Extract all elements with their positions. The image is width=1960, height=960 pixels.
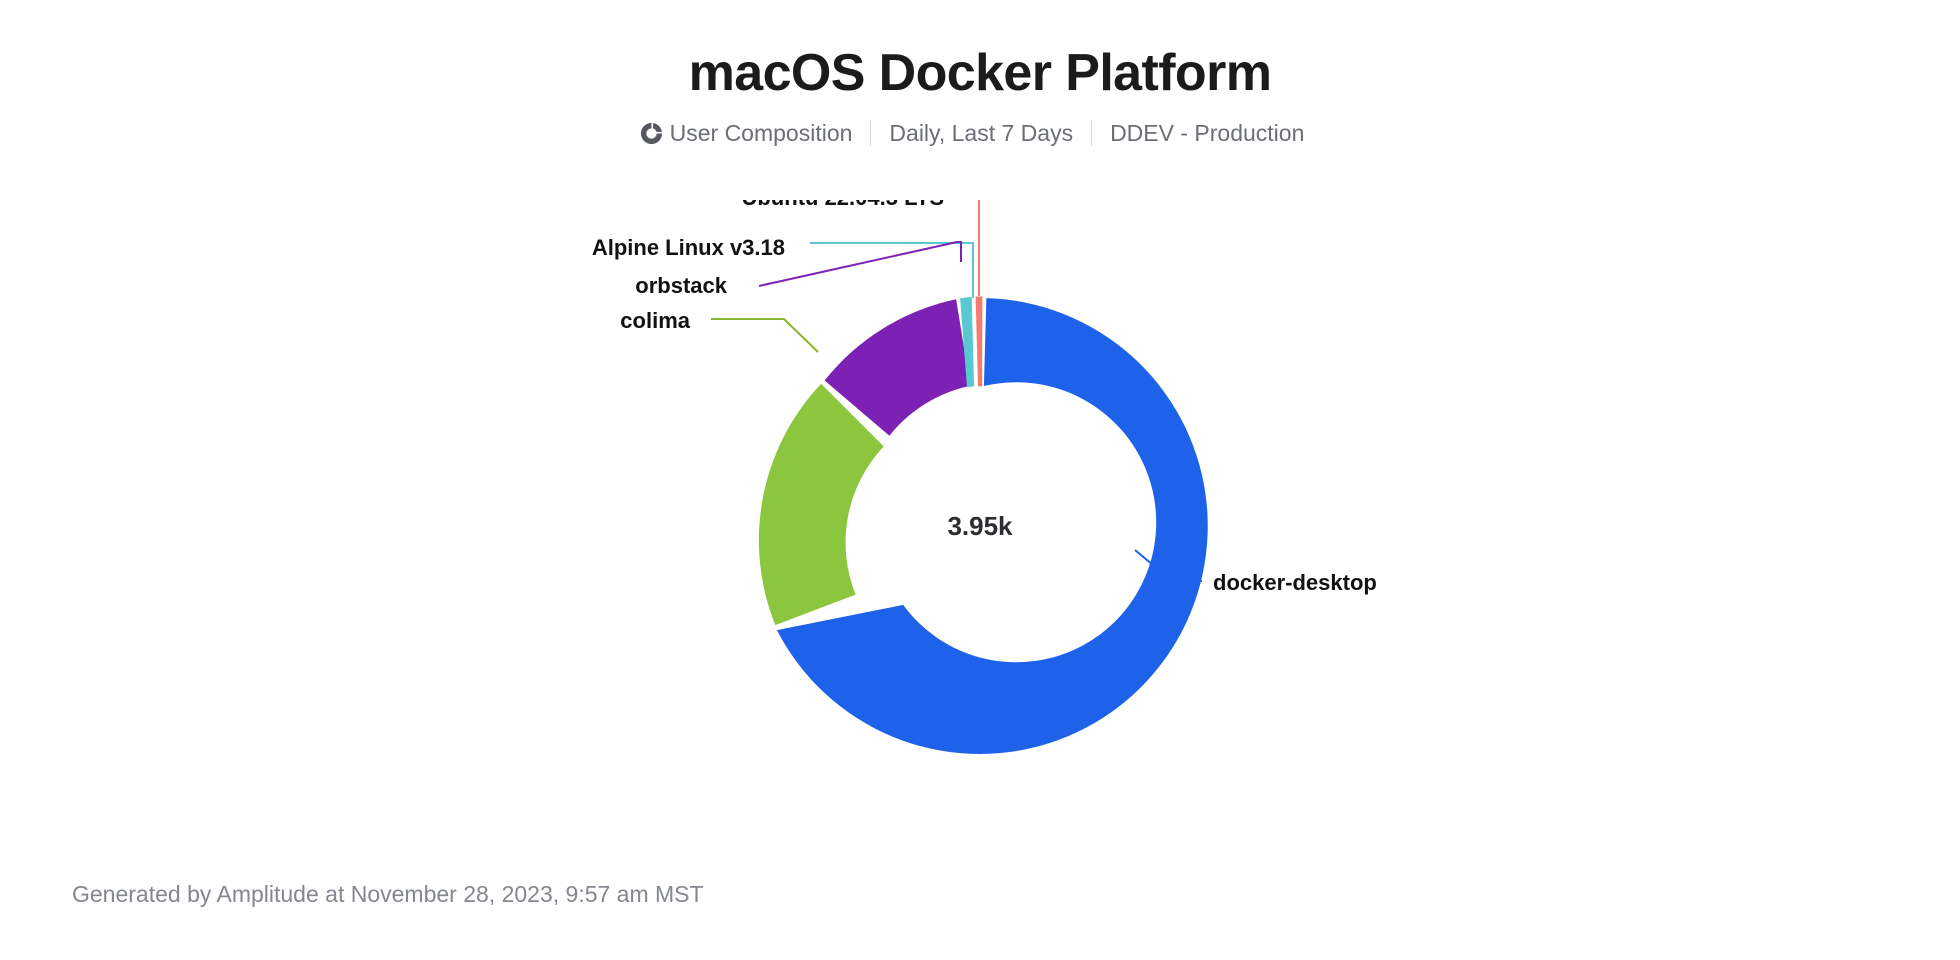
center-total-value: 3.95k — [947, 511, 1013, 541]
slice-label-docker-desktop: docker-desktop — [1213, 570, 1377, 595]
slice-colima[interactable] — [759, 384, 884, 625]
slice-label-alpine: Alpine Linux v3.18 — [592, 235, 785, 260]
slice-ubuntu[interactable] — [976, 296, 983, 386]
subtitle-interval-label: Daily, Last 7 Days — [889, 120, 1073, 147]
donut-chart-area: 3.95k Ubuntu 22.04.3 LTS Alpine Linux v3… — [0, 200, 1960, 800]
leader-line-alpine — [810, 243, 973, 298]
subtitle-project-label: DDEV - Production — [1110, 120, 1304, 147]
page-title: macOS Docker Platform — [0, 44, 1960, 104]
subtitle-metric: User Composition — [638, 120, 871, 147]
chart-page: macOS Docker Platform User Composition D… — [0, 0, 1960, 960]
subtitle-interval: Daily, Last 7 Days — [871, 120, 1091, 147]
footer-attribution: Generated by Amplitude at November 28, 2… — [72, 881, 704, 908]
slice-label-ubuntu: Ubuntu 22.04.3 LTS — [741, 200, 944, 210]
leader-line-orbstack — [759, 242, 961, 286]
subtitle-metric-label: User Composition — [670, 120, 853, 147]
donut-chart-svg: 3.95k Ubuntu 22.04.3 LTS Alpine Linux v3… — [0, 200, 1960, 800]
slice-label-orbstack: orbstack — [635, 273, 727, 298]
chart-subtitle: User Composition Daily, Last 7 Days DDEV… — [0, 120, 1960, 147]
slice-label-colima: colima — [620, 308, 690, 333]
leader-line-colima — [711, 319, 818, 352]
subtitle-project: DDEV - Production — [1092, 120, 1322, 147]
donut-chart-icon — [638, 120, 665, 147]
chart-header: macOS Docker Platform User Composition D… — [0, 0, 1960, 147]
